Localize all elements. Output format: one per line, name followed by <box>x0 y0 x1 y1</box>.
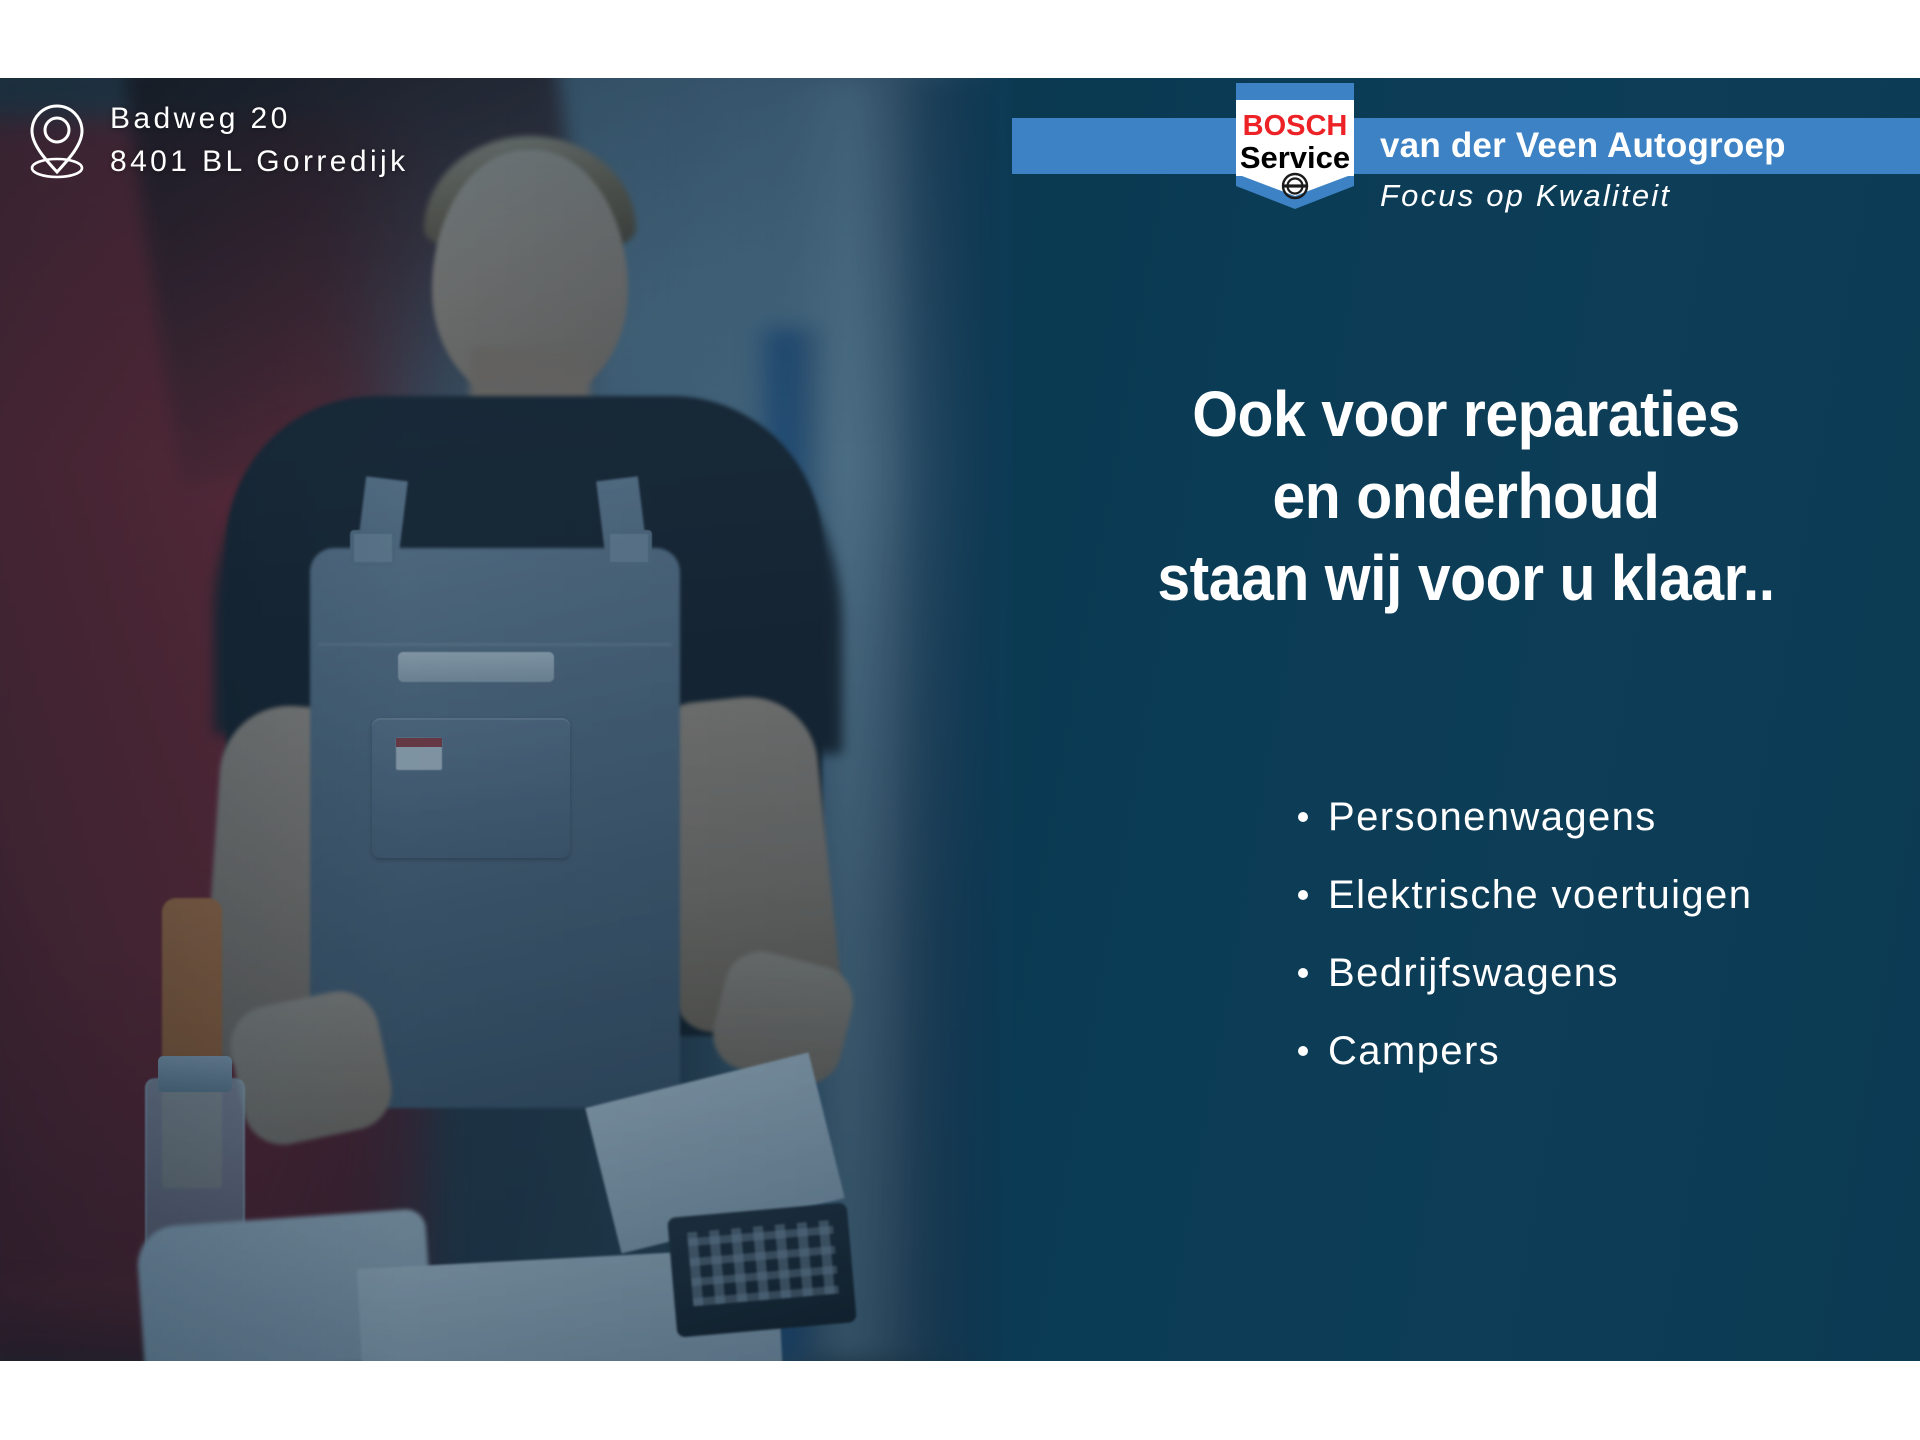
address-street: Badweg 20 <box>110 98 409 141</box>
bullet-dot-icon <box>1298 1046 1308 1056</box>
headline-line-1: Ook voor reparaties <box>1048 374 1883 456</box>
list-item: Campers <box>1012 1012 1920 1090</box>
bullet-dot-icon <box>1298 812 1308 822</box>
service-label: Bedrijfswagens <box>1328 951 1619 996</box>
address-postal-city: 8401 BL Gorredijk <box>110 141 409 184</box>
service-label: Personenwagens <box>1328 795 1657 840</box>
service-wordmark: Service <box>1240 140 1350 175</box>
company-name: van der Veen Autogroep <box>1380 118 1900 174</box>
list-item: Elektrische voertuigen <box>1012 856 1920 934</box>
advertisement-slide: Badweg 20 8401 BL Gorredijk BOSCH <box>0 0 1920 1440</box>
bosch-service-logo: BOSCH Service <box>1236 83 1354 209</box>
content-band: Badweg 20 8401 BL Gorredijk BOSCH <box>0 78 1920 1361</box>
map-pin-icon <box>26 102 88 180</box>
list-item: Bedrijfswagens <box>1012 934 1920 1012</box>
headline-line-3: staan wij voor u klaar.. <box>1048 538 1883 620</box>
bullet-dot-icon <box>1298 890 1308 900</box>
bullet-dot-icon <box>1298 968 1308 978</box>
bosch-armature-icon <box>1283 174 1307 198</box>
bosch-wordmark: BOSCH <box>1243 110 1348 142</box>
mechanic-photo: Badweg 20 8401 BL Gorredijk <box>0 78 1012 1361</box>
list-item: Personenwagens <box>1012 778 1920 856</box>
address-text-block: Badweg 20 8401 BL Gorredijk <box>110 98 409 183</box>
service-label: Campers <box>1328 1029 1500 1074</box>
photo-right-fade <box>892 78 1012 1361</box>
location-address: Badweg 20 8401 BL Gorredijk <box>26 98 409 183</box>
brand-header: BOSCH Service van der Veen Autogroep Foc… <box>1012 78 1920 238</box>
info-panel: BOSCH Service van der Veen Autogroep Foc… <box>1012 78 1920 1361</box>
service-label: Elektrische voertuigen <box>1328 873 1752 918</box>
photo-blue-tint <box>0 78 1012 1361</box>
headline: Ook voor reparaties en onderhoud staan w… <box>1048 374 1883 620</box>
headline-line-2: en onderhoud <box>1048 456 1883 538</box>
services-list: Personenwagens Elektrische voertuigen Be… <box>1012 778 1920 1090</box>
brand-tagline: Focus op Kwaliteit <box>1380 178 1671 214</box>
